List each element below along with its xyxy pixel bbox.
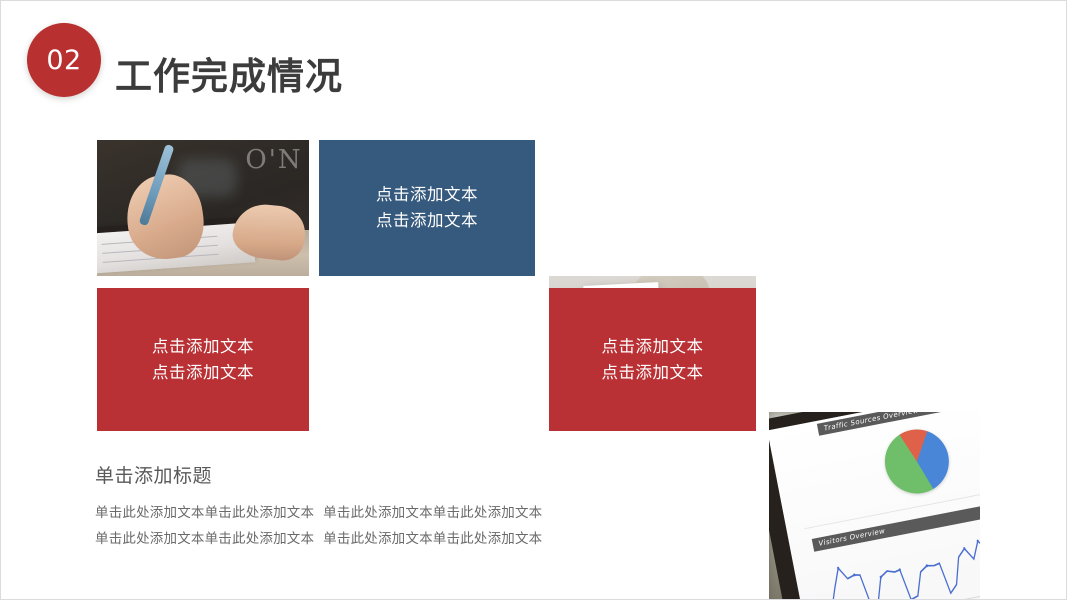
tile-text-line-1: 点击添加文本 [376,182,478,208]
tile-text-block: 点击添加文本 点击添加文本 [376,182,478,233]
content-tile-grid: O'N 点击添加文本 点击添加文本 [97,140,980,431]
tile-text-line-2: 点击添加文本 [152,360,254,386]
slide-header: 02 工作完成情况 [1,1,1066,121]
slide-canvas: 02 工作完成情况 O'N 点击添加文本 点击添加文本 [0,0,1067,600]
tile-text-line-1: 点击添加文本 [602,334,704,360]
page-title: 工作完成情况 [115,56,343,99]
bottom-heading[interactable]: 单击添加标题 [95,462,975,491]
analytics-panel-title-top: Traffic Sources Overview [817,412,976,436]
tile-text-blue[interactable]: 点击添加文本 点击添加文本 [319,140,535,276]
section-number-badge: 02 [27,23,101,97]
tile-text-red-right[interactable]: 点击添加文本 点击添加文本 [549,288,756,431]
photo-chalk-text: O'N [245,145,302,175]
bottom-paragraph-line-2[interactable]: 单击此处添加文本单击此处添加文本 单击此处添加文本单击此处添加文本 [95,526,975,552]
tile-text-line-2: 点击添加文本 [602,360,704,386]
tile-text-line-1: 点击添加文本 [152,334,254,360]
tile-text-red-left[interactable]: 点击添加文本 点击添加文本 [97,288,309,431]
tile-text-block: 点击添加文本 点击添加文本 [152,334,254,385]
photo-hand-writing-notes[interactable]: O'N [97,140,309,276]
bottom-text-block: 单击添加标题 单击此处添加文本单击此处添加文本 单击此处添加文本单击此处添加文本… [95,462,975,552]
bottom-paragraph-line-1[interactable]: 单击此处添加文本单击此处添加文本 单击此处添加文本单击此处添加文本 [95,500,975,526]
tile-text-line-2: 点击添加文本 [376,208,478,234]
tile-text-block: 点击添加文本 点击添加文本 [602,334,704,385]
section-number-label: 02 [46,47,81,74]
